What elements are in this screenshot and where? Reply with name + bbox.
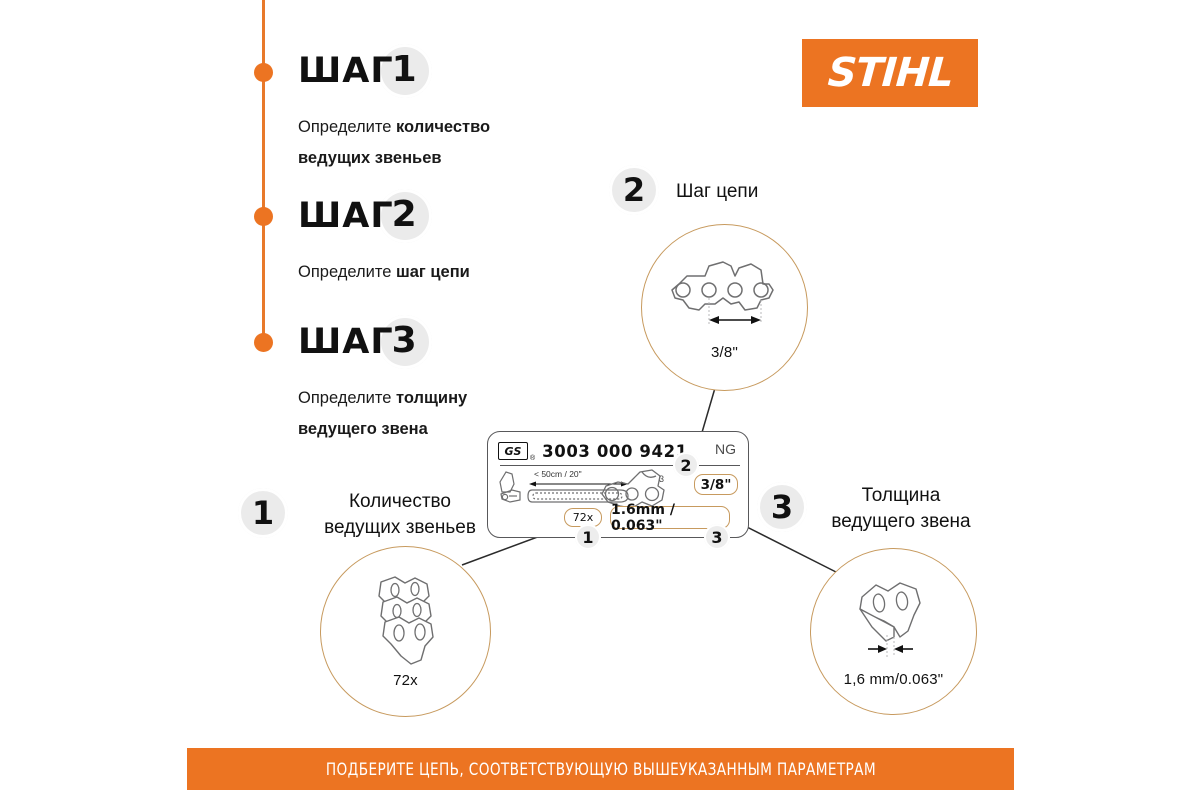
callout-circle-2: 3/8" (641, 224, 808, 391)
callout-circle-3: 1,6 mm/0.063" (810, 548, 977, 715)
timeline-rail (262, 0, 265, 345)
label-edge-number-3: 3 (704, 524, 730, 550)
part-number: 3003 000 9421 (542, 442, 688, 461)
callout-1-value: 72x (393, 672, 418, 689)
step-3-desc-plain: Определите (298, 389, 396, 407)
step-3-word: ШАГ (298, 325, 394, 360)
infographic-canvas: ШАГ 1 Определите количество ведущих звен… (0, 0, 1200, 800)
callout-3-title: Толщина ведущего звена (806, 483, 996, 534)
label-header-row: GS ® 3003 000 9421 (498, 440, 738, 462)
callout-1-title-line1: Количество (305, 489, 495, 515)
sprocket-mark-3: 3 (659, 474, 664, 484)
step-block-2: ШАГ 2 Определите шаг цепи (298, 189, 470, 288)
callout-2-content: 3/8" (642, 225, 807, 390)
timeline-dot-3 (254, 333, 273, 352)
callout-1-number: 1 (252, 497, 274, 529)
callout-3-number: 3 (771, 491, 793, 523)
step-2-number: 2 (392, 197, 418, 233)
callout-2-value: 3/8" (711, 344, 738, 361)
step-2-description: Определите шаг цепи (298, 257, 470, 288)
callout-3-content: 1,6 mm/0.063" (811, 549, 976, 714)
label-edge-number-1: 1 (575, 524, 601, 550)
bar-length-label: < 50cm / 20" (534, 469, 582, 479)
stihl-logo: STIHL (802, 39, 978, 107)
gs-certification-icon: GS (498, 442, 528, 460)
callout-3-title-line1: Толщина (806, 483, 996, 509)
step-1-description: Определите количество ведущих звеньев (298, 112, 548, 173)
drive-links-icon (369, 574, 443, 668)
step-2-desc-plain: Определите (298, 263, 396, 281)
banner-text: ПОДБЕРИТЕ ЦЕПЬ, СООТВЕТСТВУЮЩУЮ ВЫШЕУКАЗ… (325, 760, 875, 779)
step-2-desc-bold: шаг цепи (396, 263, 470, 281)
callout-3-value: 1,6 mm/0.063" (844, 671, 944, 688)
product-label-card: GS ® 3003 000 9421 NG (487, 431, 749, 538)
callout-1-title: Количество ведущих звеньев (305, 489, 495, 540)
step-1-word: ШАГ (298, 54, 394, 89)
step-3-number: 3 (392, 323, 418, 359)
gs-registered-icon: ® (530, 455, 535, 462)
label-divider (500, 465, 740, 466)
step-1-heading: ШАГ 1 (298, 44, 548, 98)
step-2-heading: ШАГ 2 (298, 189, 470, 243)
callout-2-number: 2 (623, 174, 645, 206)
bottom-banner: ПОДБЕРИТЕ ЦЕПЬ, СООТВЕТСТВУЮЩУЮ ВЫШЕУКАЗ… (187, 748, 1014, 790)
timeline-dot-1 (254, 63, 273, 82)
step-2-word: ШАГ (298, 199, 394, 234)
callout-1-title-line2: ведущих звеньев (305, 515, 495, 541)
leader-lines (0, 0, 1200, 800)
step-block-1: ШАГ 1 Определите количество ведущих звен… (298, 44, 548, 173)
callout-1-content: 72x (321, 547, 490, 716)
chain-pitch-icon (665, 254, 785, 340)
callout-circle-1: 72x (320, 546, 491, 717)
step-block-3: ШАГ 3 Определите толщину ведущего звена (298, 315, 548, 444)
timeline-dot-2 (254, 207, 273, 226)
callout-3-title-line2: ведущего звена (806, 509, 996, 535)
callout-2-badge: 2 (609, 165, 659, 215)
step-1-number: 1 (392, 52, 418, 88)
step-3-heading: ШАГ 3 (298, 315, 548, 369)
label-pitch: 3/8" (694, 474, 738, 495)
drive-link-gauge-icon (842, 575, 946, 667)
callout-3-badge: 3 (757, 482, 807, 532)
callout-2-title: Шаг цепи (676, 179, 758, 205)
step-1-desc-plain: Определите (298, 118, 396, 136)
ng-code: NG (715, 441, 736, 457)
label-edge-number-2: 2 (673, 452, 699, 478)
callout-1-badge: 1 (238, 488, 288, 538)
stihl-wordmark: STIHL (826, 50, 954, 96)
